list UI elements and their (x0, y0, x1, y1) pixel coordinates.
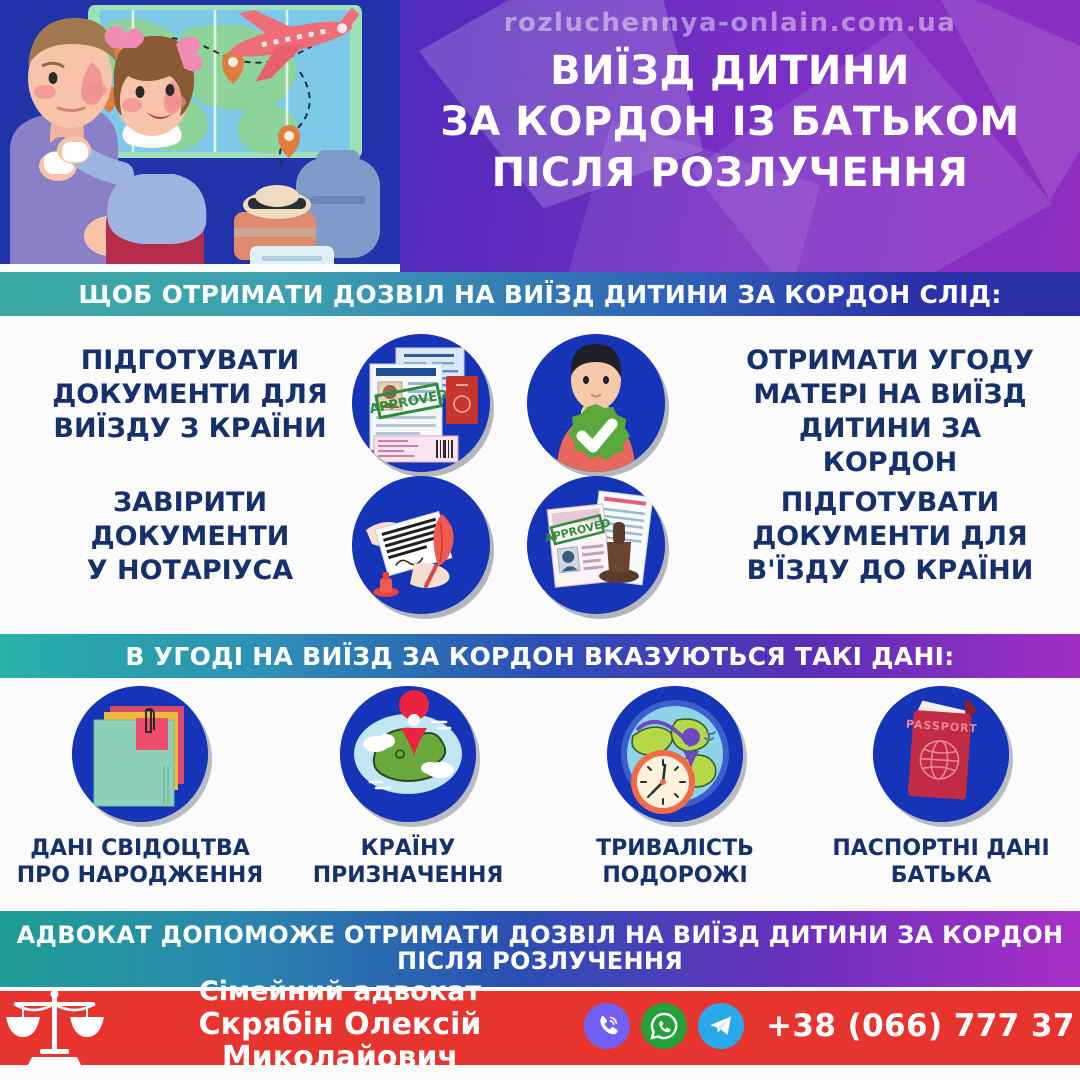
viber-icon[interactable] (584, 1003, 630, 1049)
agreement-caption-2: КРАЇНУ ПРИЗНАЧЕННЯ (273, 836, 543, 890)
step-4-line-2: ДОКУМЕНТИ ДЛЯ (730, 520, 1050, 554)
visa-stamp-documents-icon: APPROVED (527, 476, 665, 614)
step-2-line-3: ДИТИНИ ЗА КОРДОН (730, 412, 1050, 480)
caption-2-line-2: ПРИЗНАЧЕННЯ (273, 863, 543, 890)
caption-4-line-1: ПАСПОРТНІ ДАНІ (806, 836, 1076, 863)
agreement-caption-3: ТРИВАЛІСТЬ ПОДОРОЖІ (540, 836, 810, 890)
documents-folder-icon (72, 686, 208, 822)
caption-3-line-1: ТРИВАЛІСТЬ (540, 836, 810, 863)
notary-signature-quill-icon (352, 476, 490, 614)
steps-row-1: ПІДГОТУВАТИ ДОКУМЕНТИ ДЛЯ ВИЇЗДУ З КРАЇН… (0, 334, 1080, 479)
step-3-line-2: ДОКУМЕНТИ (30, 520, 350, 554)
agreement-item-1: ДАНІ СВІДОЦТВА ПРО НАРОДЖЕННЯ (5, 686, 275, 890)
cta-banner: АДВОКАТ ДОПОМОЖЕ ОТРИМАТИ ДОЗВІЛ НА ВИЇЗ… (0, 911, 1080, 987)
infographic-page: rozluchennya-onlain.com.ua ВИЇЗД ДИТИНИ … (0, 0, 1080, 1080)
title-line-2: ЗА КОРДОН ІЗ БАТЬКОМ (400, 97, 1060, 148)
passport-icon: PASSPORT (873, 686, 1009, 822)
step-1-line-2: ДОКУМЕНТИ ДЛЯ (30, 378, 350, 412)
lawyer-name-block: Сімейний адвокат Скрябін Олексій Миколай… (110, 977, 570, 1074)
cta-line-1: АДВОКАТ ДОПОМОЖЕ ОТРИМАТИ ДОЗВІЛ НА ВИЇЗ… (17, 923, 1064, 949)
section1-banner-text: ЩОБ ОТРИМАТИ ДОЗВІЛ НА ВИЇЗД ДИТИНИ ЗА К… (78, 281, 1001, 308)
page-title: ВИЇЗД ДИТИНИ ЗА КОРДОН ІЗ БАТЬКОМ ПІСЛЯ … (400, 46, 1060, 200)
section2-banner: В УГОДІ НА ВИЇЗД ЗА КОРДОН ВКАЗУЮТЬСЯ ТА… (0, 634, 1080, 678)
step-4-line-3: В'ЇЗДУ ДО КРАЇНИ (730, 554, 1050, 588)
section1-steps: ПІДГОТУВАТИ ДОКУМЕНТИ ДЛЯ ВИЇЗДУ З КРАЇН… (0, 316, 1080, 634)
agreement-item-4: PASSPORT ПАСПОРТНІ ДАНІ (806, 686, 1076, 890)
caption-2-line-1: КРАЇНУ (273, 836, 543, 863)
step-3-line-3: У НОТАРІУСА (30, 554, 350, 588)
mother-consent-checkmark-icon (527, 334, 665, 472)
site-url: rozluchennya-onlain.com.ua (430, 8, 1030, 38)
caption-1-line-2: ПРО НАРОДЖЕННЯ (5, 863, 275, 890)
whatsapp-icon[interactable] (641, 1003, 687, 1049)
social-links (584, 1003, 744, 1049)
title-line-1: ВИЇЗД ДИТИНИ (400, 46, 1060, 97)
step-2-line-2: МАТЕРІ НА ВИЇЗД (730, 378, 1050, 412)
caption-4-line-2: БАТЬКА (806, 863, 1076, 890)
lawyer-full-name: Скрябін Олексій Миколайович (110, 1008, 570, 1075)
section2-agreement-data: ДАНІ СВІДОЦТВА ПРО НАРОДЖЕННЯ (0, 678, 1080, 911)
telegram-icon[interactable] (698, 1003, 744, 1049)
title-line-3: ПІСЛЯ РОЗЛУЧЕННЯ (400, 148, 1060, 199)
caption-3-line-2: ПОДОРОЖІ (540, 863, 810, 890)
step-text-1: ПІДГОТУВАТИ ДОКУМЕНТИ ДЛЯ ВИЇЗДУ З КРАЇН… (30, 344, 350, 446)
globe-clock-icon (607, 686, 743, 822)
section2-banner-text: В УГОДІ НА ВИЇЗД ЗА КОРДОН ВКАЗУЮТЬСЯ ТА… (125, 643, 954, 670)
visa-documents-approved-icon: APPROVED (352, 334, 490, 472)
step-1-line-3: ВИЇЗДУ З КРАЇНИ (30, 412, 350, 446)
step-text-2: ОТРИМАТИ УГОДУ МАТЕРІ НА ВИЇЗД ДИТИНИ ЗА… (730, 344, 1050, 480)
phone-number[interactable]: +38 (066) 777 37 33 (766, 1008, 1080, 1044)
agreement-item-2: КРАЇНУ ПРИЗНАЧЕННЯ (273, 686, 543, 890)
step-3-line-1: ЗАВІРИТИ (30, 486, 350, 520)
father-daughter-travel-illustration (0, 0, 400, 272)
step-text-3: ЗАВІРИТИ ДОКУМЕНТИ У НОТАРІУСА (30, 486, 350, 588)
step-text-4: ПІДГОТУВАТИ ДОКУМЕНТИ ДЛЯ В'ЇЗДУ ДО КРАЇ… (730, 486, 1050, 588)
map-location-pin-icon (340, 686, 476, 822)
steps-row-2: ЗАВІРИТИ ДОКУМЕНТИ У НОТАРІУСА (0, 476, 1080, 621)
agreement-caption-1: ДАНІ СВІДОЦТВА ПРО НАРОДЖЕННЯ (5, 836, 275, 890)
agreement-caption-4: ПАСПОРТНІ ДАНІ БАТЬКА (806, 836, 1076, 890)
caption-1-line-1: ДАНІ СВІДОЦТВА (5, 836, 275, 863)
hero-section: rozluchennya-onlain.com.ua ВИЇЗД ДИТИНИ … (0, 0, 1080, 272)
step-2-line-1: ОТРИМАТИ УГОДУ (730, 344, 1050, 378)
step-4-line-1: ПІДГОТУВАТИ (730, 486, 1050, 520)
footer-contact-bar: Сімейний адвокат Скрябін Олексій Миколай… (0, 987, 1080, 1065)
agreement-item-3: ТРИВАЛІСТЬ ПОДОРОЖІ (540, 686, 810, 890)
step-1-line-1: ПІДГОТУВАТИ (30, 344, 350, 378)
cta-line-2: ПІСЛЯ РОЗЛУЧЕННЯ (397, 949, 683, 975)
footer-divider (0, 987, 1080, 991)
section1-banner: ЩОБ ОТРИМАТИ ДОЗВІЛ НА ВИЇЗД ДИТИНИ ЗА К… (0, 272, 1080, 316)
lawyer-role: Сімейний адвокат (110, 977, 570, 1007)
scales-of-justice-icon (0, 987, 110, 1065)
